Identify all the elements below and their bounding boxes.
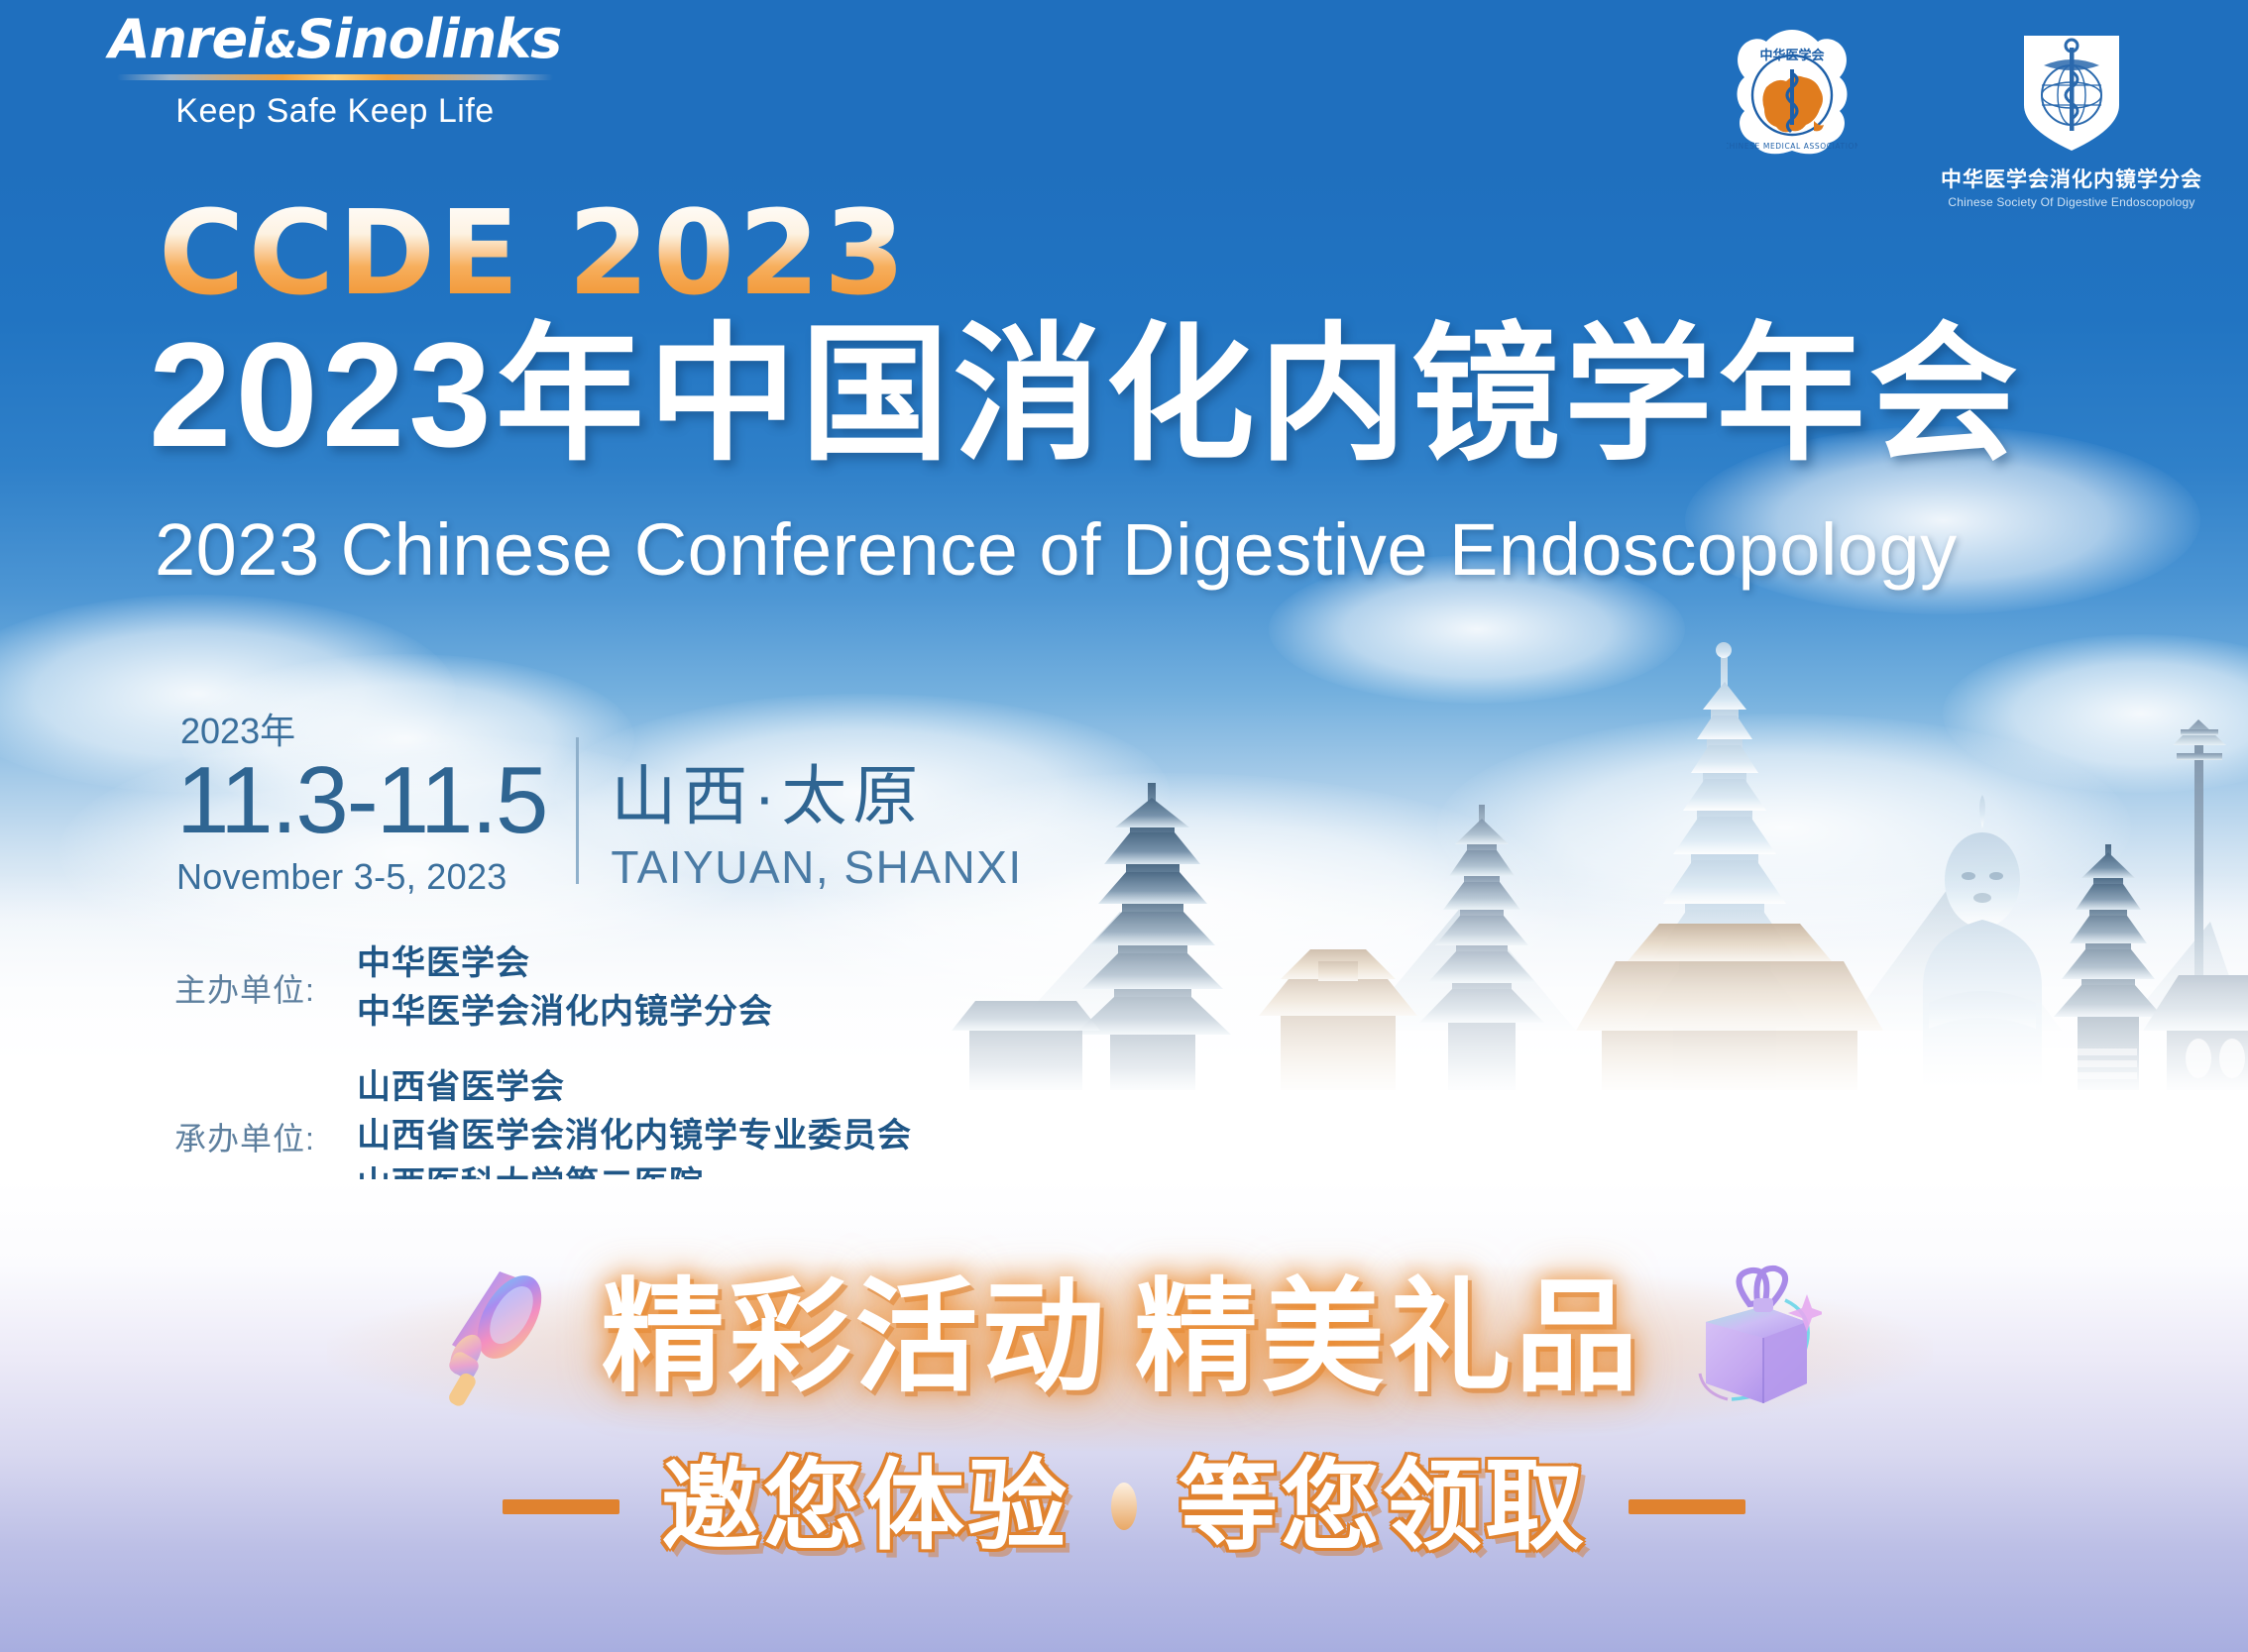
event-year-cn: 2023年 [180, 712, 546, 751]
event-date-group: 2023年 11.3-11.5 November 3-5, 2023 [176, 712, 576, 898]
organizer-label-coorganizer: 承办单位: [174, 1114, 323, 1159]
organizer-values-host: 中华医学会 中华医学会消化内镜学分会 [357, 939, 773, 1038]
chinese-society-of-digestive-endoscopology-shield-icon [2014, 26, 2129, 157]
promo-subline-left: 邀您体验 [661, 1457, 1069, 1556]
promo-subline-right: 等您领取 [1179, 1457, 1587, 1556]
chinese-medical-association-seal-icon: 中华医学会 CHINESE MEDICAL ASSOCIATION [1727, 26, 1857, 157]
conference-promo-poster: Anrei&Sinolinks Keep Safe Keep Life 中华医学… [0, 0, 2248, 1652]
svg-text:中华医学会: 中华医学会 [1759, 48, 1825, 63]
dot-separator [1111, 1483, 1137, 1530]
event-date-location-block: 2023年 11.3-11.5 November 3-5, 2023 山西·太原… [176, 712, 1023, 898]
association-item-cma: 中华医学会 CHINESE MEDICAL ASSOCIATION [1727, 26, 1857, 164]
gift-box-icon [1668, 1261, 1822, 1414]
event-location-cn: 山西·太原 [611, 759, 1022, 834]
association-item-csde: 中华医学会消化内镜学分会 Chinese Society Of Digestiv… [1941, 26, 2202, 209]
event-location-en: TAIYUAN, SHANXI [611, 840, 1022, 894]
brand-ampersand: & [265, 23, 296, 66]
promotional-banner: 精彩活动 精美礼品 [0, 1179, 2248, 1652]
brand-tagline: Keep Safe Keep Life [57, 92, 613, 131]
promo-headline-left: 精彩活动 [601, 1276, 1108, 1399]
conference-title-en: 2023 Chinese Conference of Digestive End… [155, 507, 1958, 592]
organizer-label-host: 主办单位: [174, 965, 323, 1011]
promo-headline-row: 精彩活动 精美礼品 [0, 1261, 2248, 1414]
organizer-value: 中华医学会消化内镜学分会 [357, 988, 773, 1037]
company-wordmark: Anrei&Sinolinks [57, 12, 613, 68]
organizer-row-host: 主办单位: 中华医学会 中华医学会消化内镜学分会 [174, 939, 912, 1038]
event-date-en: November 3-5, 2023 [176, 856, 546, 898]
right-dash-decoration [1629, 1499, 1745, 1514]
event-location-group: 山西·太原 TAIYUAN, SHANXI [579, 712, 1022, 898]
association-csde-name: 中华医学会消化内镜学分会 [1941, 164, 2202, 193]
brand-name-part2: Sinolinks [296, 8, 561, 70]
conference-title-cn: 2023年中国消化内镜学年会 [149, 317, 2022, 474]
organizer-value: 山西省医学会 [357, 1063, 912, 1112]
association-csde-name-en: Chinese Society Of Digestive Endoscopolo… [1941, 195, 2202, 209]
company-logo: Anrei&Sinolinks Keep Safe Keep Life [57, 12, 613, 131]
organizer-value: 山西省医学会消化内镜学专业委员会 [357, 1112, 912, 1160]
brand-underline-rule [117, 74, 553, 80]
association-logos: 中华医学会 CHINESE MEDICAL ASSOCIATION 中华医学会消… [1727, 26, 2202, 209]
organizer-value: 中华医学会 [357, 939, 773, 988]
svg-text:CHINESE MEDICAL ASSOCIATION: CHINESE MEDICAL ASSOCIATION [1727, 142, 1857, 151]
left-dash-decoration [503, 1499, 619, 1514]
promo-subline-row: 邀您体验 等您领取 [0, 1457, 2248, 1556]
event-date-range: 11.3-11.5 [176, 753, 546, 848]
megaphone-icon [426, 1264, 575, 1412]
conference-acronym: CCDE 2023 [159, 194, 909, 311]
brand-name-part1: Anrei [109, 8, 265, 70]
promo-headline-right: 精美礼品 [1135, 1276, 1642, 1399]
